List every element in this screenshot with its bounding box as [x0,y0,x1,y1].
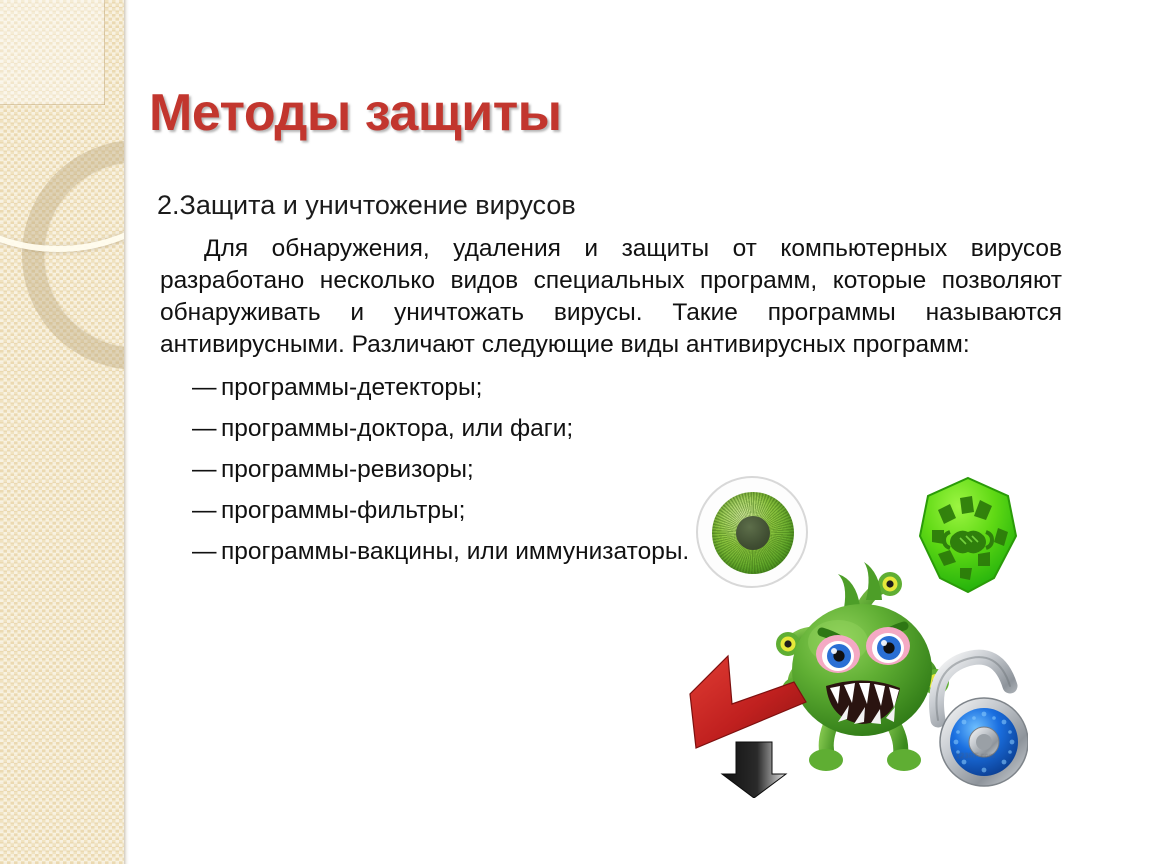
section-subheading: 2.Защита и уничтожение вирусов [157,190,576,221]
decorative-sidebar [0,0,124,864]
list-item-label: программы-вакцины, или иммунизаторы. [221,538,689,565]
list-item-label: программы-доктора, или фаги; [221,415,573,442]
eye-pupil [736,516,770,550]
open-padlock-icon [922,636,1028,796]
em-dash-bullet: — [192,408,221,449]
page-title: Методы защиты [149,83,562,143]
em-dash-bullet: — [192,490,221,531]
list-item: —программы-детекторы; [192,367,892,408]
body-paragraph: Для обнаружения, удаления и защиты от ко… [160,233,1062,361]
sidebar-shadow-edge [124,0,129,864]
em-dash-bullet: — [192,367,221,408]
decorative-ring-thin [0,0,124,252]
em-dash-bullet: — [192,531,221,572]
em-dash-bullet: — [192,449,221,490]
padlock-watermark: 123RF.com [956,753,1018,763]
red-and-black-down-arrows [688,646,820,798]
antivirus-clipart-illustration: 123RF.com [688,468,1024,802]
list-item-label: программы-фильтры; [221,497,465,524]
slide-canvas: Методы защиты 2.Защита и уничтожение вир… [0,0,1150,864]
list-item-label: программы-детекторы; [221,374,482,401]
list-item-label: программы-ревизоры; [221,456,474,483]
list-item: —программы-доктора, или фаги; [192,408,892,449]
